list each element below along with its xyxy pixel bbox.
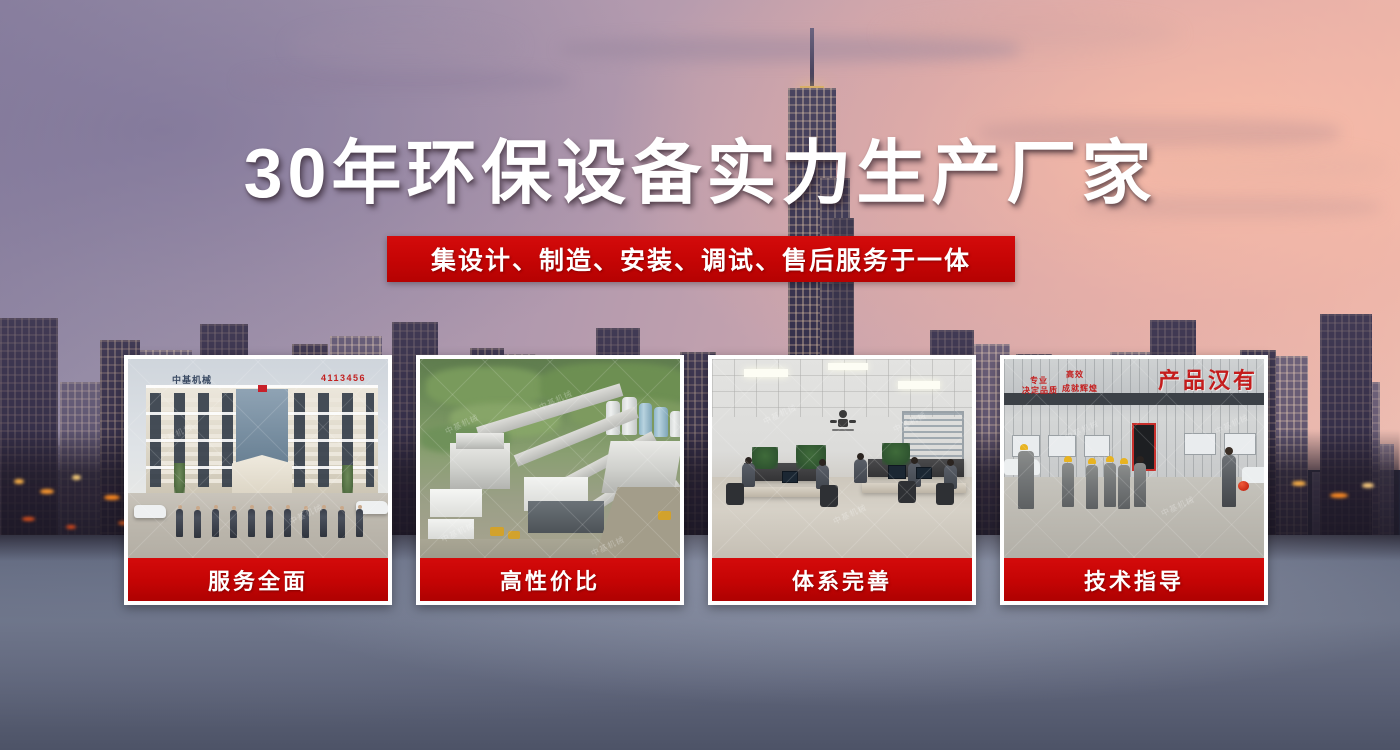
production-plant-aerial-photo: 中基机械 中基机械 中基机械 中基机械 xyxy=(420,359,680,558)
company-sign-text: 中基机械 xyxy=(172,373,212,386)
feature-card[interactable]: 中基机械 中基机械 中基机械 中基机械 高性价比 xyxy=(416,355,684,605)
feature-card-label-text: 服务全面 xyxy=(208,564,308,596)
company-headquarters-photo: 中基机械 4113456 中基机械 中基机械 xyxy=(128,359,388,558)
feature-card-label: 技术指导 xyxy=(1004,558,1264,601)
feature-card[interactable]: 中基机械 中基机械 中基机械 体系完善 xyxy=(708,355,976,605)
promo-banner: 30年环保设备实力生产厂家 集设计、制造、安装、调试、售后服务于一体 中基机械 … xyxy=(0,0,1400,750)
feature-card[interactable]: 中基机械 4113456 中基机械 中基机械 xyxy=(124,355,392,605)
feature-card-label-text: 技术指导 xyxy=(1084,564,1184,596)
feature-card-label: 高性价比 xyxy=(420,558,680,601)
tower-spire xyxy=(810,28,814,92)
feature-card-label: 体系完善 xyxy=(712,558,972,601)
instructor-figure xyxy=(1222,455,1236,507)
subtitle-banner: 集设计、制造、安装、调试、售后服务于一体 xyxy=(387,236,1015,282)
page-title: 30年环保设备实力生产厂家 xyxy=(0,134,1400,212)
feature-card-list: 中基机械 4113456 中基机械 中基机械 xyxy=(124,355,1279,605)
red-helmet-icon xyxy=(1238,481,1249,491)
factory-slogan-3: 决定品质 xyxy=(1022,385,1058,396)
factory-slogan-4: 成就辉煌 xyxy=(1062,383,1098,394)
technical-training-photo: 产品汉有 专业 高效 决定品质 成就辉煌 xyxy=(1004,359,1264,558)
feature-card-label-text: 体系完善 xyxy=(792,564,892,596)
office-interior-photo: 中基机械 中基机械 中基机械 xyxy=(712,359,972,558)
flag-icon xyxy=(258,385,267,392)
feature-card-label: 服务全面 xyxy=(128,558,388,601)
feature-card[interactable]: 产品汉有 专业 高效 决定品质 成就辉煌 xyxy=(1000,355,1268,605)
wall-logo-icon xyxy=(822,407,864,433)
feature-card-label-text: 高性价比 xyxy=(500,564,600,596)
company-phone-text: 4113456 xyxy=(321,373,366,383)
factory-slogan-2: 高效 xyxy=(1066,369,1084,380)
factory-sign-text: 产品汉有 xyxy=(1158,363,1258,395)
subtitle-text: 集设计、制造、安装、调试、售后服务于一体 xyxy=(431,241,971,277)
